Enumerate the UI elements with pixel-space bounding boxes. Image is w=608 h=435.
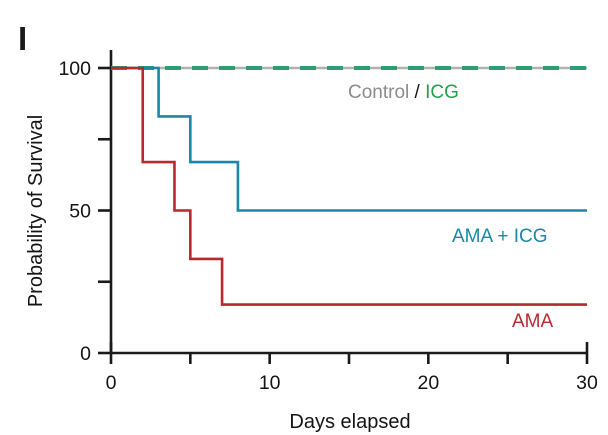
series-label-part-control-icg-1: /: [409, 82, 425, 103]
y-tick-label-50: 50: [69, 201, 91, 223]
y-tick-label-0: 0: [80, 343, 91, 365]
series-label-ama: AMA: [512, 311, 554, 332]
series-labels: Control / ICGAMA + ICGAMA: [348, 82, 554, 332]
y-axis-title: Probability of Survival: [25, 115, 47, 307]
series-label-control-icg: Control / ICG: [348, 82, 459, 103]
survival-chart: I Probability of Survival Days elapsed 0…: [0, 0, 608, 435]
x-tick-label-20: 20: [417, 372, 439, 394]
series-label-part-control-icg-2: ICG: [425, 82, 459, 103]
x-tick-label-30: 30: [576, 372, 598, 394]
series-label-part-ama-0: AMA: [512, 311, 554, 332]
x-tick-label-10: 10: [259, 372, 281, 394]
panel-letter: I: [18, 20, 27, 57]
series-label-part-ama-icg-0: AMA + ICG: [452, 226, 548, 247]
series-label-ama-icg: AMA + ICG: [452, 226, 548, 247]
series-line-ama: [111, 68, 587, 305]
figure-panel-I: I Probability of Survival Days elapsed 0…: [0, 0, 608, 435]
x-axis-title: Days elapsed: [289, 411, 410, 433]
y-tick-label-100: 100: [58, 58, 91, 80]
series-label-part-control-icg-0: Control: [348, 82, 409, 103]
x-tick-label-0: 0: [106, 372, 117, 394]
x-axis-ticks: 0102030: [106, 342, 598, 394]
y-axis-ticks: 050100: [58, 58, 111, 365]
series-lines: [111, 68, 587, 305]
